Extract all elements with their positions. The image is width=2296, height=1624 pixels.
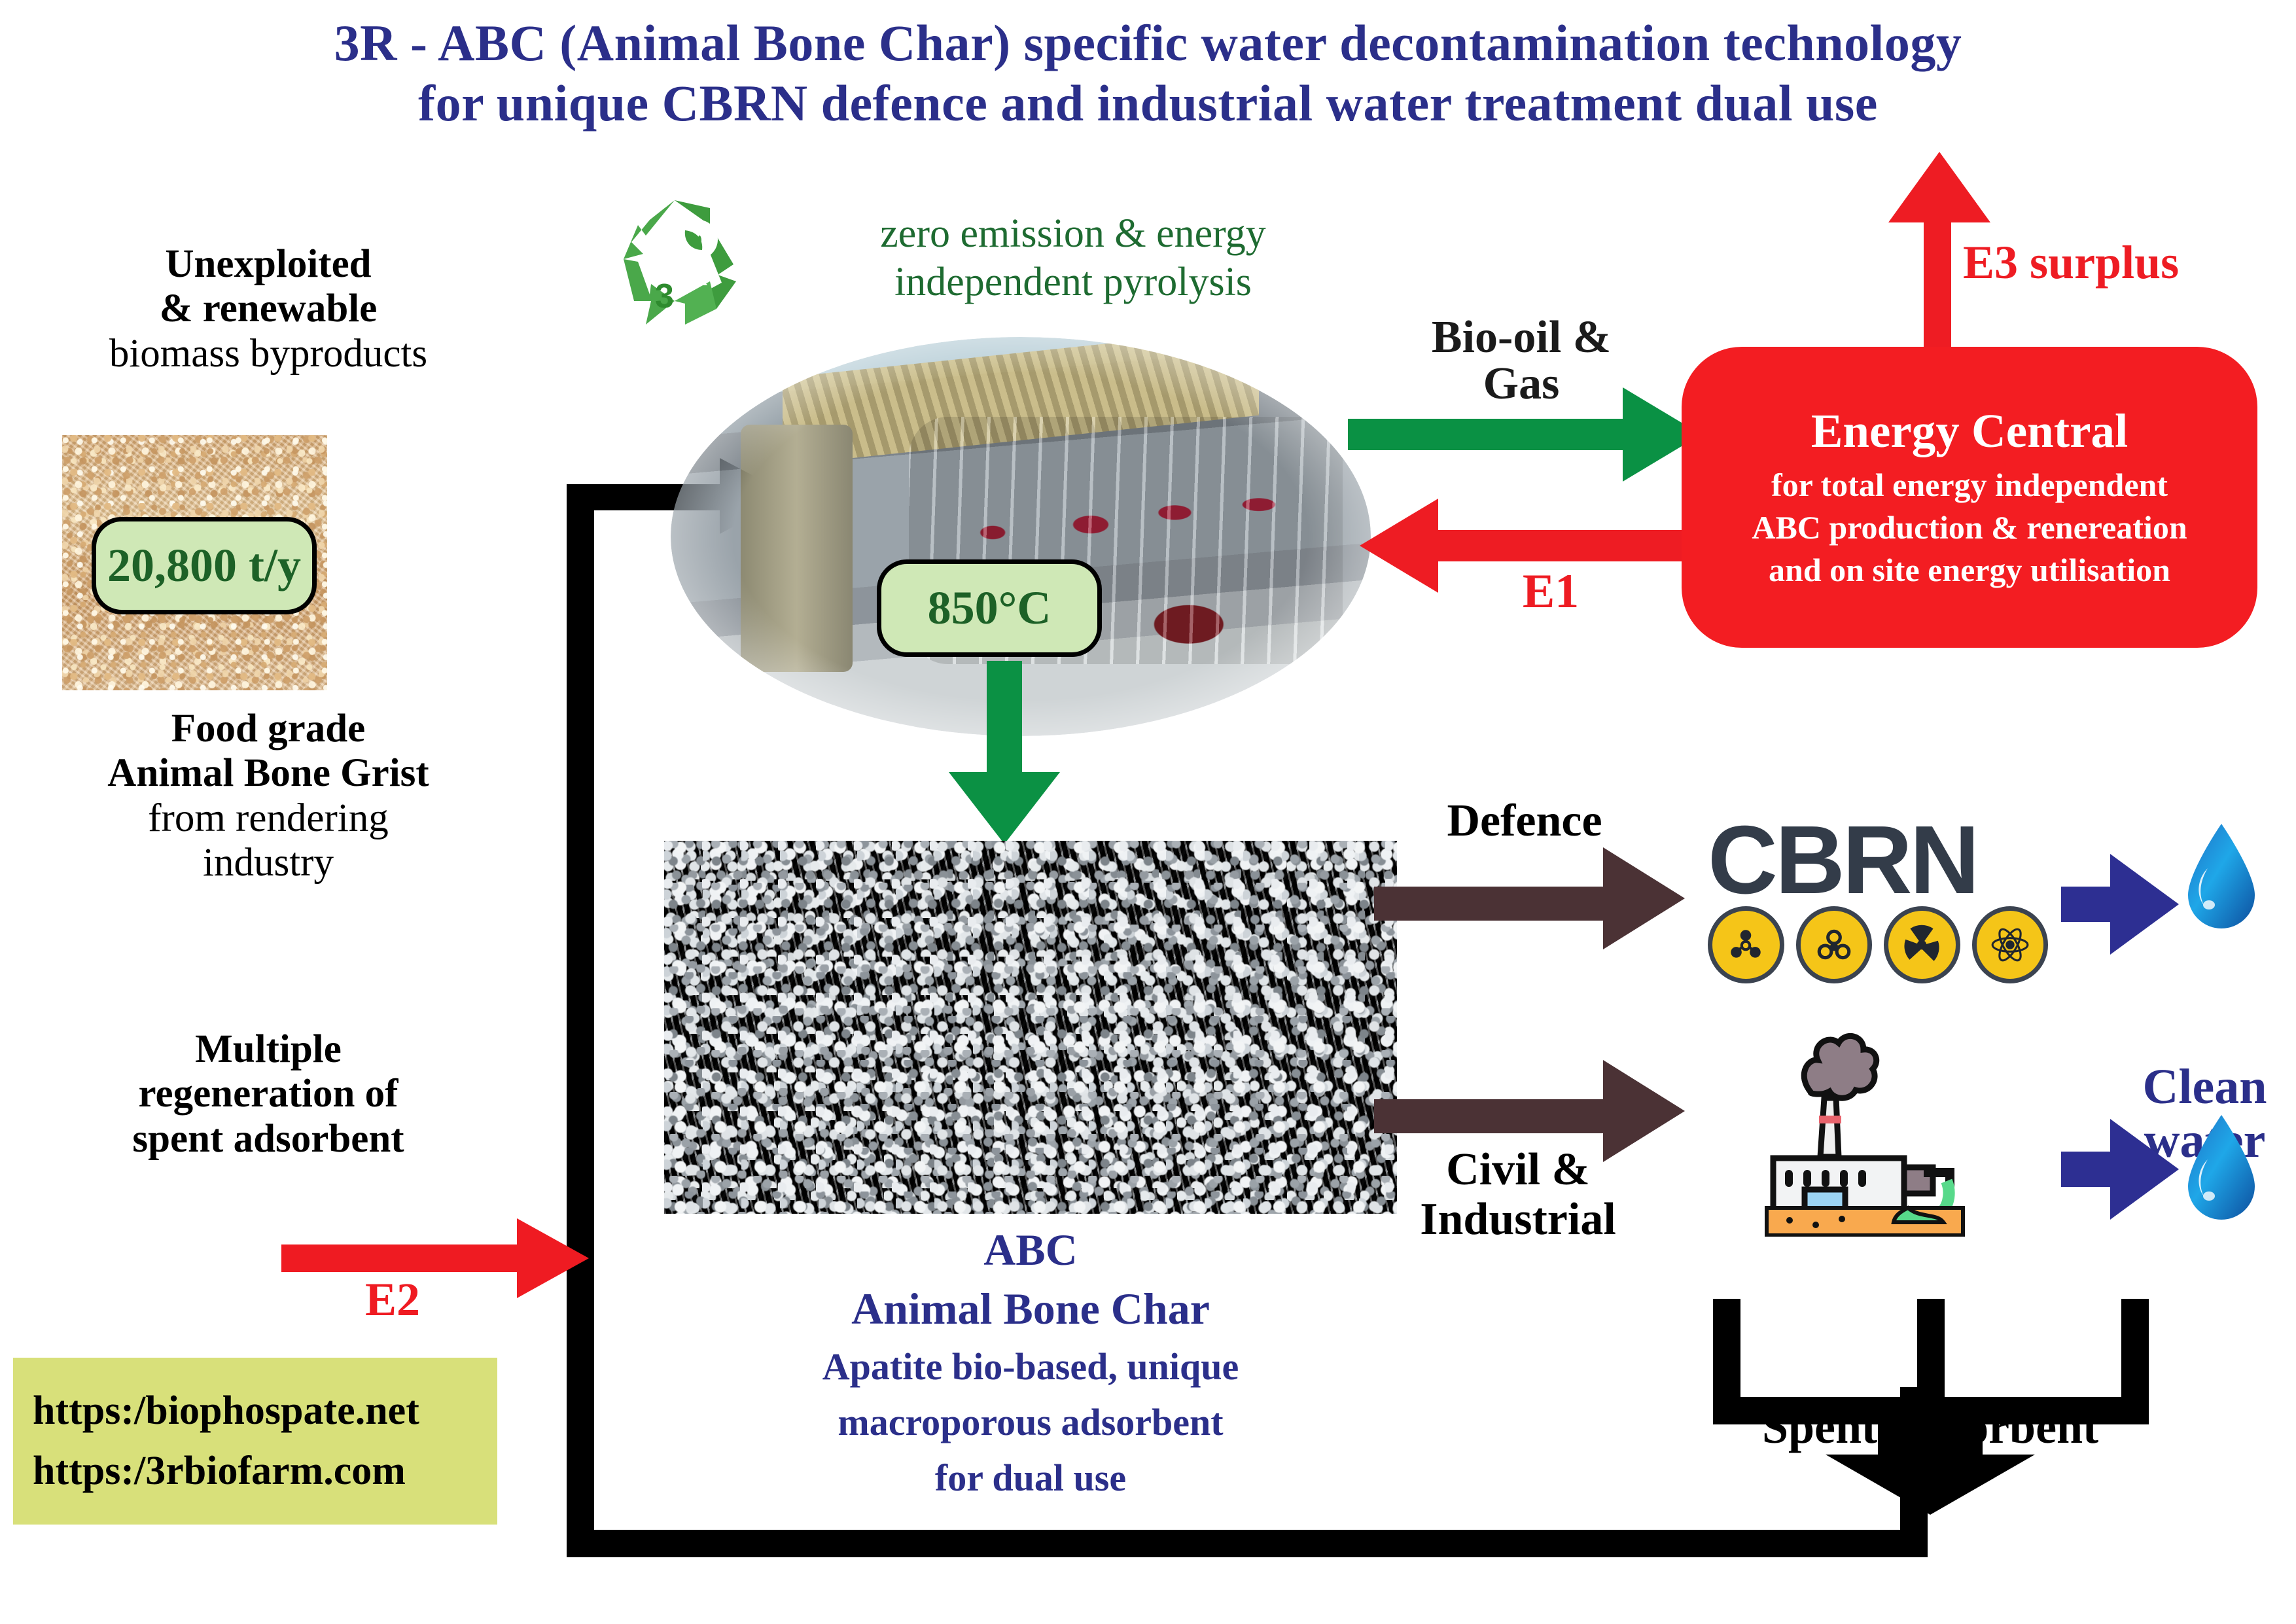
defence-arrow-shaft [1374,887,1610,921]
bone-label-line-3: from rendering [26,796,510,841]
e1-arrow-shaft [1433,530,1708,561]
e2-label: E2 [294,1273,491,1327]
abc-desc-line-1: Apatite bio-based, unique [664,1344,1397,1390]
e3-arrow-head [1888,152,1990,222]
abc-full-name: Animal Bone Char [664,1282,1397,1335]
energy-central-line-3: and on site energy utilisation [1682,549,2257,591]
e2-arrow-shaft [281,1244,523,1272]
energy-central-line-2: ABC production & renereation [1682,506,2257,549]
pyrolysis-caption-line-1: zero emission & energy [766,209,1381,258]
links-box: https:/biophospate.net https:/3rbiofarm.… [13,1358,497,1525]
regeneration-line-3: spent adsorbent [26,1117,510,1161]
abc-desc-line-2: macroporous adsorbent [664,1400,1397,1446]
e3-arrow-shaft [1924,216,1951,366]
biomass-source-label: Unexploited & renewable biomass byproduc… [39,242,497,376]
polluting-factory-icon [1727,1021,2002,1237]
energy-central-title: Energy Central [1682,404,2257,459]
biomass-label-line-2: & renewable [39,287,497,331]
clean-water-arrow-1-shaft [2061,887,2113,922]
cbrn-wordmark: CBRN [1708,805,2048,916]
clean-water-line-1: Clean [2113,1060,2296,1114]
abc-caption: ABC Animal Bone Char Apatite bio-based, … [664,1224,1397,1502]
regeneration-line-1: Multiple [26,1027,510,1072]
energy-central-line-1: for total energy independent [1682,464,2257,506]
page-title: 3R - ABC (Animal Bone Char) specific wat… [0,13,2296,133]
regeneration-line-2: regeneration of [26,1072,510,1116]
defence-label: Defence [1381,795,1669,847]
reactor-tower [741,425,853,672]
diagram-canvas: 3R - ABC (Animal Bone Char) specific wat… [0,0,2296,1624]
pyrolysis-caption-line-2: independent pyrolysis [766,258,1381,306]
clean-water-arrow-2-shaft [2061,1152,2113,1187]
chemical-hazard-icon [1708,906,1784,983]
char-output-arrow-head [949,772,1060,844]
civil-industrial-label: Civil & Industrial [1374,1145,1662,1244]
title-line-1: 3R - ABC (Animal Bone Char) specific wat… [334,14,1962,71]
radiation-hazard-icon [1884,906,1960,983]
abc-abbreviation: ABC [664,1224,1397,1276]
pyrolysis-caption: zero emission & energy independent pyrol… [766,209,1381,307]
svg-text:3: 3 [655,277,674,315]
abc-desc-line-3: for dual use [664,1455,1397,1502]
biomass-label-line-3: biomass byproducts [39,332,497,376]
link-biophospate[interactable]: https:/biophospate.net [33,1381,497,1441]
bone-label-line-2: Animal Bone Grist [26,751,510,796]
temperature-badge: 850°C [877,559,1102,657]
link-3rbiofarm[interactable]: https:/3rbiofarm.com [33,1441,497,1502]
e1-arrow-head [1360,499,1438,593]
e3-surplus-label: E3 surplus [1963,236,2296,290]
spent-adsorbent-label: Spent Adsorbent [1649,1400,2212,1455]
defence-arrow-head [1603,847,1685,949]
water-droplet-icon [2179,821,2264,936]
biooil-arrow-shaft [1348,419,1629,450]
biooil-label-line-2: Gas [1381,361,1662,407]
cbrn-hazard-icon-row [1708,906,2048,983]
bone-label-line-4: industry [26,841,510,885]
biooil-label-line-1: Bio-oil & [1381,314,1662,361]
recycle-loop-bottom [567,1530,1928,1557]
e2-arrow-head [517,1218,589,1298]
clean-water-arrow-2-head [2110,1119,2179,1220]
civil-label-line-2: Industrial [1374,1195,1662,1244]
civil-arrow-shaft [1374,1099,1610,1133]
clean-water-arrow-1-head [2110,854,2179,955]
recycle-3r-logo-icon: 3 [612,196,743,330]
title-line-2: for unique CBRN defence and industrial w… [0,73,2296,133]
water-droplet-icon [2179,1112,2264,1227]
char-output-arrow-shaft [987,661,1022,775]
civil-label-line-1: Civil & [1374,1145,1662,1195]
bone-grist-label: Food grade Animal Bone Grist from render… [26,707,510,885]
biohazard-icon [1796,906,1873,983]
biomass-label-line-1: Unexploited [39,242,497,287]
bone-label-line-1: Food grade [26,707,510,751]
energy-central-box: Energy Central for total energy independ… [1682,347,2257,648]
regeneration-label: Multiple regeneration of spent adsorbent [26,1027,510,1161]
e1-label: E1 [1453,564,1649,620]
animal-bone-char-photo [664,841,1397,1214]
biooil-gas-label: Bio-oil & Gas [1381,314,1662,408]
throughput-badge: 20,800 t/y [92,517,317,614]
nuclear-atom-icon [1972,906,2049,983]
recycle-loop-vertical [567,484,594,1557]
